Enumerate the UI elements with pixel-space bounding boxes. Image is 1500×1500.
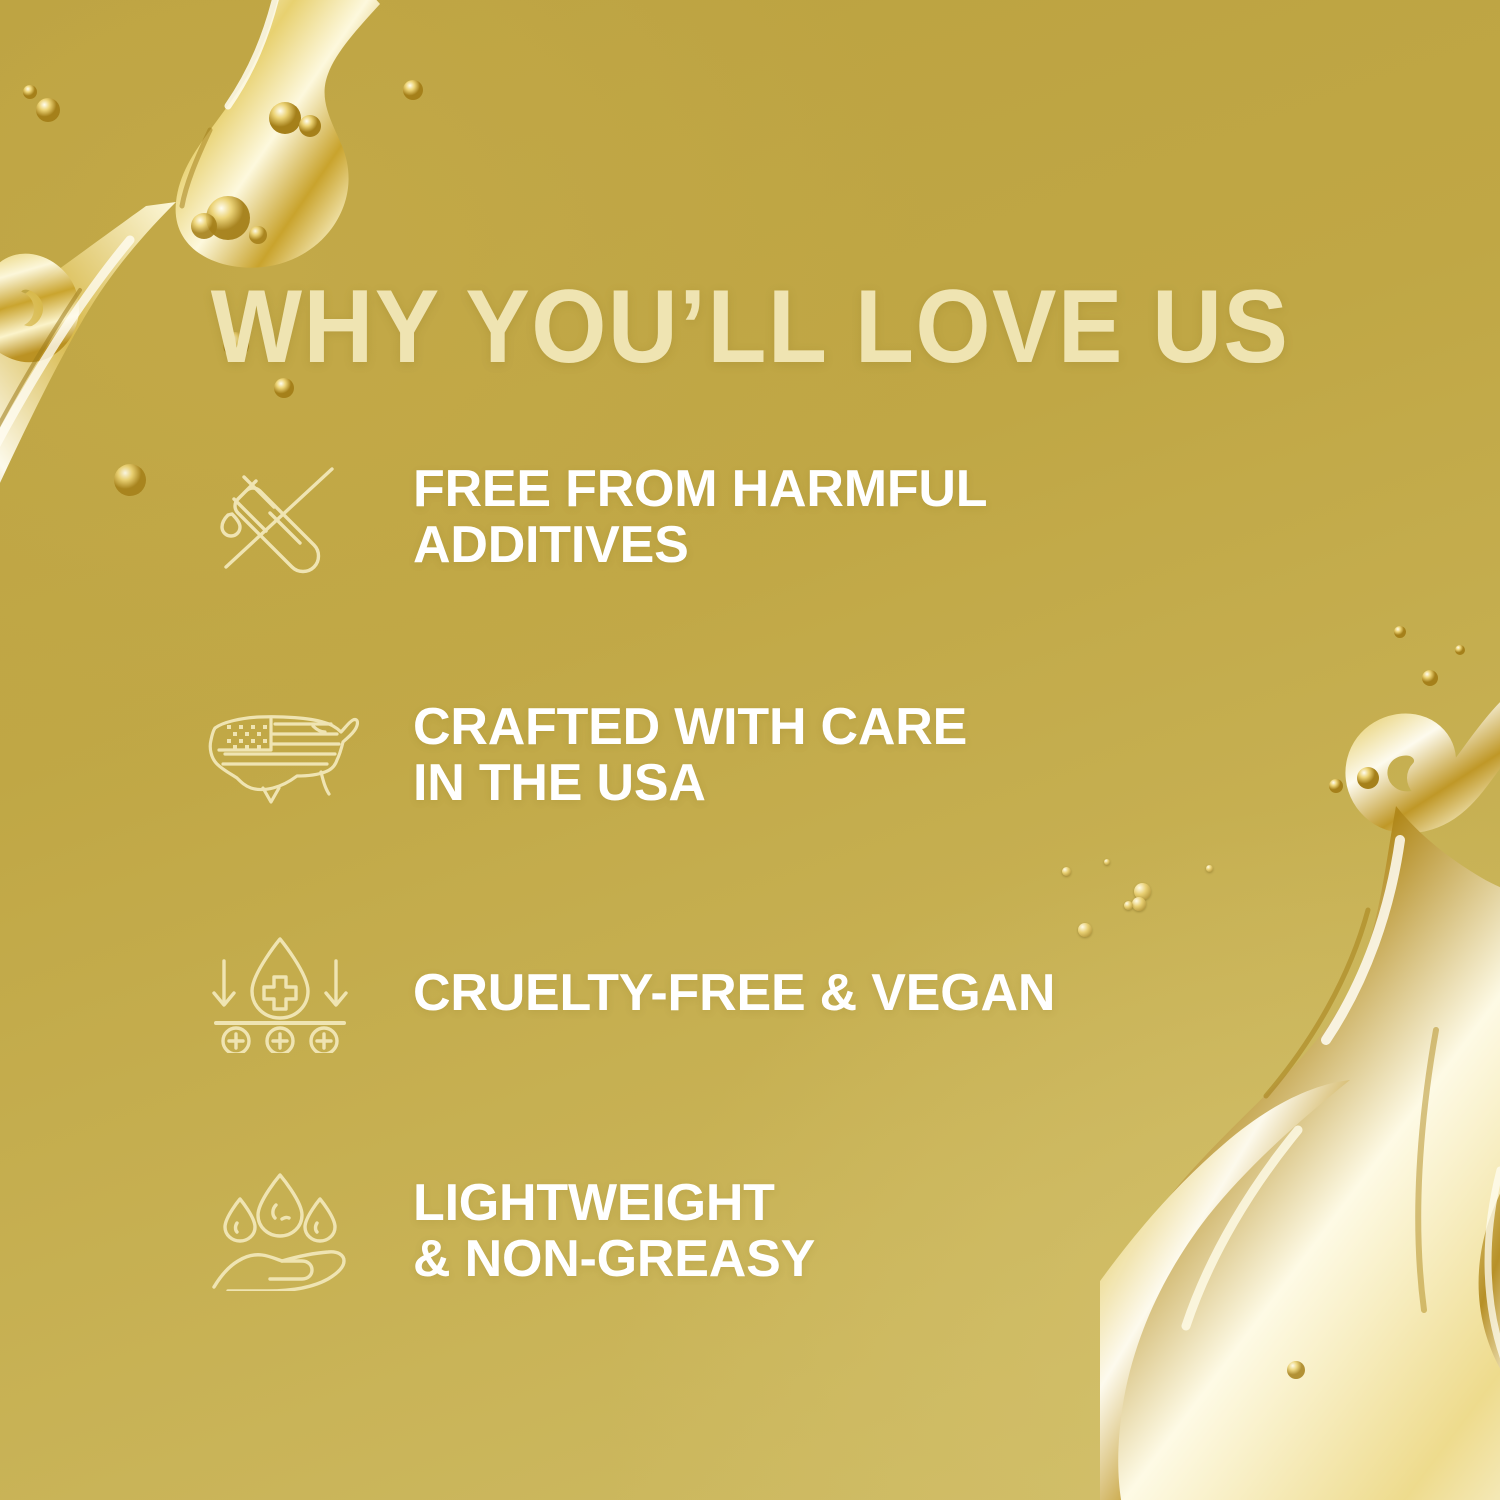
feature-label-line2: & NON-GREASY <box>413 1232 815 1288</box>
feature-label-line1: CRUELTY-FREE & VEGAN <box>413 966 1055 1022</box>
test-tube-no-additives-icon <box>195 455 365 580</box>
feature-item: CRAFTED WITH CARE IN THE USA <box>195 693 1345 818</box>
feature-label: FREE FROM HARMFUL ADDITIVES <box>413 462 987 573</box>
hand-droplets-icon <box>195 1169 365 1294</box>
feature-label-line2: IN THE USA <box>413 756 967 812</box>
usa-map-flag-icon <box>195 693 365 818</box>
feature-item: LIGHTWEIGHT & NON-GREASY <box>195 1169 1345 1294</box>
feature-item: FREE FROM HARMFUL ADDITIVES <box>195 455 1345 580</box>
feature-label: CRAFTED WITH CARE IN THE USA <box>413 700 967 811</box>
feature-label-line1: FREE FROM HARMFUL <box>413 462 987 518</box>
feature-label-line2: ADDITIVES <box>413 518 987 574</box>
feature-item: CRUELTY-FREE & VEGAN <box>195 931 1345 1056</box>
absorption-droplet-icon <box>195 931 365 1056</box>
feature-label-line1: LIGHTWEIGHT <box>413 1176 815 1232</box>
page-title: WHY YOU’LL LOVE US <box>53 275 1448 379</box>
feature-label: LIGHTWEIGHT & NON-GREASY <box>413 1176 815 1287</box>
poster-canvas: WHY YOU’LL LOVE US FREE F <box>0 0 1500 1500</box>
feature-label-line1: CRAFTED WITH CARE <box>413 700 967 756</box>
feature-label: CRUELTY-FREE & VEGAN <box>413 966 1055 1022</box>
feature-list: FREE FROM HARMFUL ADDITIVES <box>195 455 1345 1294</box>
